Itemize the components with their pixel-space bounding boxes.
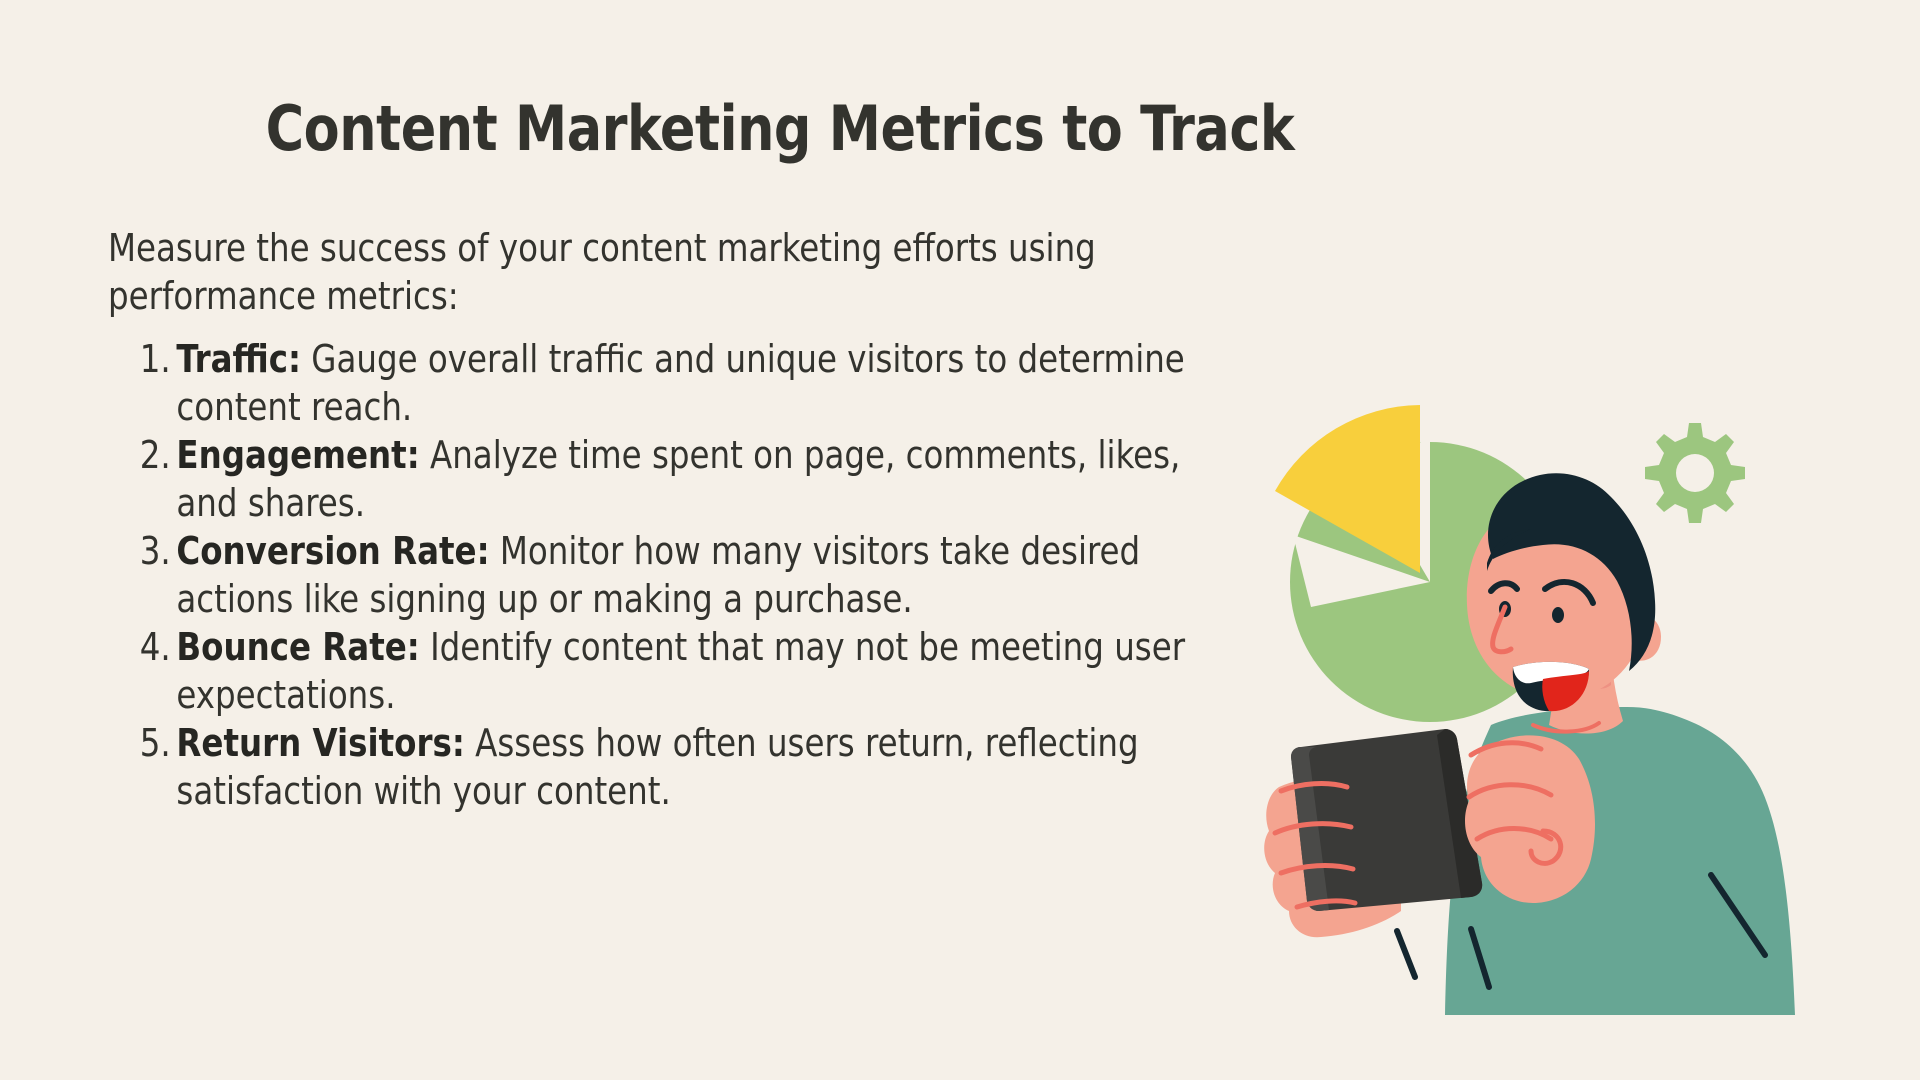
slide-canvas: Content Marketing Metrics to Track Measu… — [0, 0, 1920, 1080]
list-item-number: 2. — [108, 431, 171, 479]
list-item-term: Return Visitors: — [176, 721, 464, 765]
gear-icon — [1645, 423, 1745, 523]
page-title: Content Marketing Metrics to Track — [47, 95, 1513, 163]
list-item: 1.Traffic: Gauge overall traffic and uni… — [108, 335, 1210, 431]
list-item-number: 3. — [108, 527, 171, 575]
list-item: 3.Conversion Rate: Monitor how many visi… — [108, 527, 1210, 623]
list-item-term: Conversion Rate: — [176, 529, 489, 573]
person-eye-right — [1552, 607, 1564, 623]
list-item-term: Engagement: — [176, 433, 419, 477]
list-item: 2.Engagement: Analyze time spent on page… — [108, 431, 1210, 527]
list-item-number: 5. — [108, 719, 171, 767]
list-item: 5.Return Visitors: Assess how often user… — [108, 719, 1210, 815]
list-item-description: Gauge overall traffic and unique visitor… — [176, 337, 1184, 429]
list-item-number: 1. — [108, 335, 171, 383]
illustration-person-with-tablet — [1255, 395, 1815, 1015]
body-content: Measure the success of your content mark… — [108, 225, 1258, 815]
list-item: 4.Bounce Rate: Identify content that may… — [108, 623, 1210, 719]
list-item-number: 4. — [108, 623, 171, 671]
metrics-list: 1.Traffic: Gauge overall traffic and uni… — [108, 335, 1258, 816]
intro-paragraph: Measure the success of your content mark… — [108, 225, 1186, 321]
list-item-term: Bounce Rate: — [176, 625, 419, 669]
list-item-term: Traffic: — [176, 337, 301, 381]
